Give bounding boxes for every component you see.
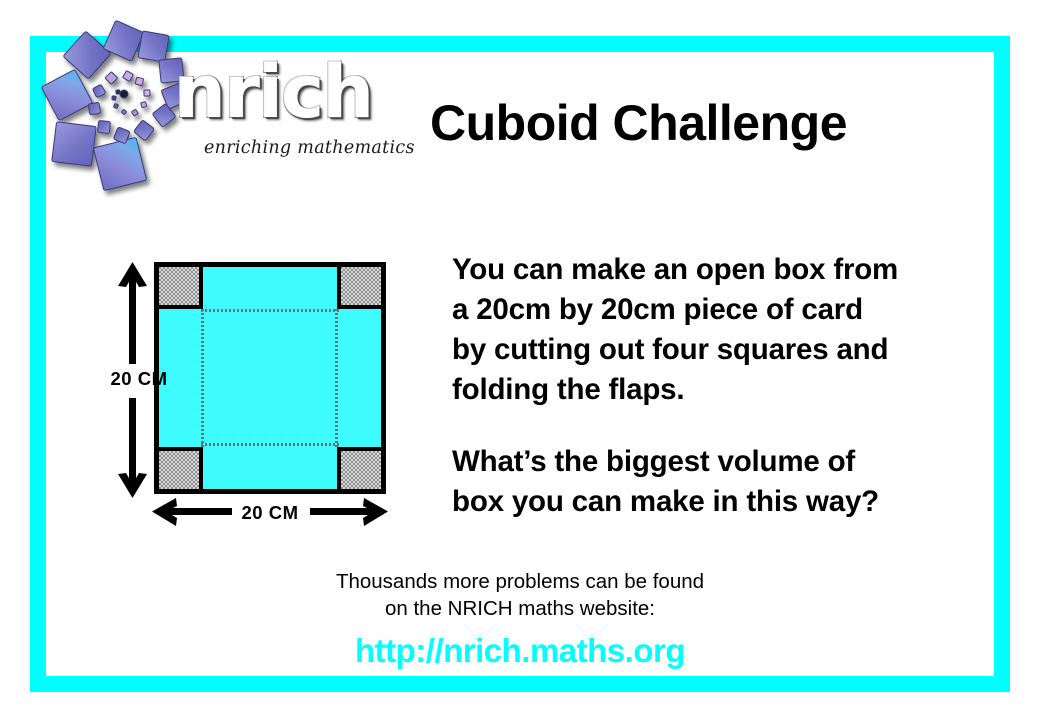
paragraph2-line1: What’s the biggest volume of — [452, 442, 952, 482]
width-label: 20 CM — [228, 502, 312, 524]
nrich-spiral-squares-icon — [36, 20, 196, 200]
footer-line-2: on the NRICH maths website: — [120, 595, 920, 622]
cut-square-top-right — [337, 267, 381, 309]
paragraph1-line3: by cutting out four squares and — [452, 330, 962, 370]
footer-line-1: Thousands more problems can be found — [120, 568, 920, 595]
fold-line-right — [335, 309, 338, 449]
page-title: Cuboid Challenge — [430, 94, 950, 152]
card-net-diagram: 20 CM 20 CM — [96, 252, 406, 532]
arrow-shaft-bottom — [129, 398, 136, 486]
problem-paragraph-2: What’s the biggest volume of box you can… — [452, 442, 952, 522]
height-label: 20 CM — [104, 368, 174, 390]
footer-promo-text: Thousands more problems can be found on … — [120, 568, 920, 622]
fold-line-top — [201, 309, 341, 312]
fold-line-bottom — [201, 443, 341, 446]
height-dimension-arrow: 20 CM — [114, 260, 148, 500]
fold-line-left — [201, 309, 204, 449]
paragraph1-line1: You can make an open box from — [452, 250, 962, 290]
nrich-logo[interactable]: nrich enriching mathematics — [36, 20, 396, 200]
cut-square-bottom-right — [337, 447, 381, 489]
arrow-shaft-right — [310, 508, 376, 515]
cut-square-bottom-left — [159, 447, 203, 489]
nrich-wordmark-text: nrich — [174, 54, 394, 132]
nrich-tagline: enriching mathematics — [204, 138, 404, 158]
cut-square-top-left — [159, 267, 203, 309]
nrich-website-url[interactable]: http://nrich.maths.org — [120, 632, 920, 670]
width-dimension-arrow: 20 CM — [150, 496, 390, 532]
nrich-wordmark: nrich — [174, 54, 394, 132]
problem-paragraph-1: You can make an open box from a 20cm by … — [452, 250, 962, 410]
poster: nrich enriching mathematics Cuboid Chall… — [0, 0, 1040, 720]
arrow-shaft-top — [129, 274, 136, 364]
paragraph2-line2: box you can make in this way? — [452, 482, 952, 522]
paragraph1-line2: a 20cm by 20cm piece of card — [452, 290, 962, 330]
paragraph1-line4: folding the flaps. — [452, 370, 962, 410]
card-square — [154, 262, 386, 494]
arrow-shaft-left — [166, 508, 232, 515]
